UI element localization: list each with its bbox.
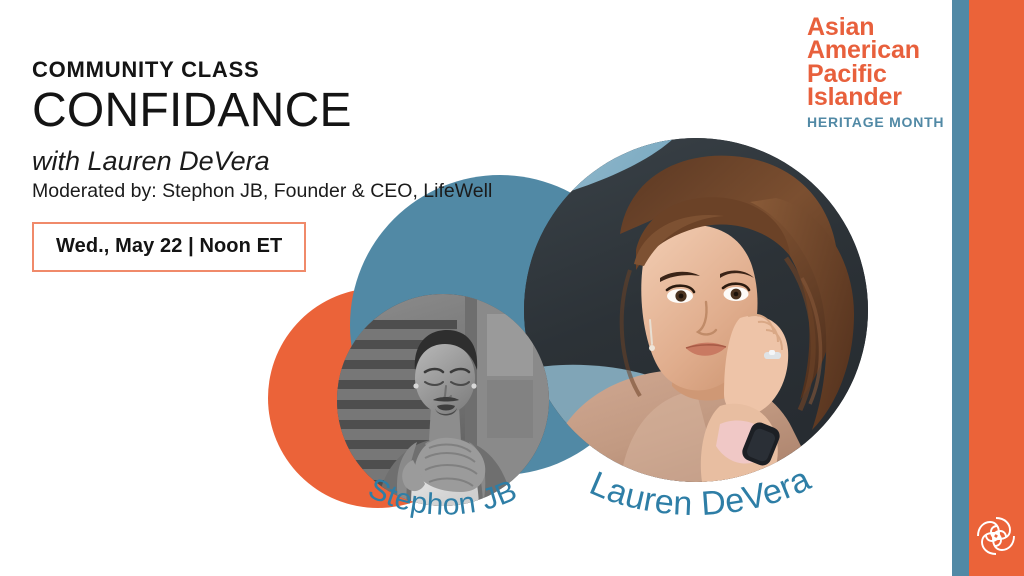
svg-text:Stephon JB: Stephon JB bbox=[363, 472, 521, 522]
instructor-line: with Lauren DeVera bbox=[32, 146, 572, 177]
orange-edge-bar bbox=[969, 0, 1024, 576]
floral-pinwheel-logo-icon bbox=[972, 512, 1020, 560]
blue-edge-bar bbox=[952, 0, 969, 576]
aapi-subtitle: HERITAGE MONTH bbox=[807, 114, 947, 130]
aapi-heritage-logo: Asian American Pacific Islander HERITAGE… bbox=[807, 16, 947, 130]
date-badge: Wed., May 22 | Noon ET bbox=[32, 222, 306, 272]
name-label-lauren: Lauren DeVera bbox=[510, 420, 890, 576]
moderator-line: Moderated by: Stephon JB, Founder & CEO,… bbox=[32, 180, 572, 203]
svg-text:Lauren DeVera: Lauren DeVera bbox=[584, 460, 816, 523]
aapi-line-islander: Islander bbox=[807, 86, 947, 109]
promo-graphic: Stephon JB Lauren DeVera COMMUNITY CLASS… bbox=[0, 0, 1024, 576]
date-badge-text: Wed., May 22 | Noon ET bbox=[56, 235, 282, 257]
aapi-line-american: American bbox=[807, 39, 947, 62]
promo-text-block: COMMUNITY CLASS CONFIDANCE with Lauren D… bbox=[32, 58, 572, 204]
page-title: CONFIDANCE bbox=[32, 86, 572, 136]
eyebrow-label: COMMUNITY CLASS bbox=[32, 58, 572, 82]
